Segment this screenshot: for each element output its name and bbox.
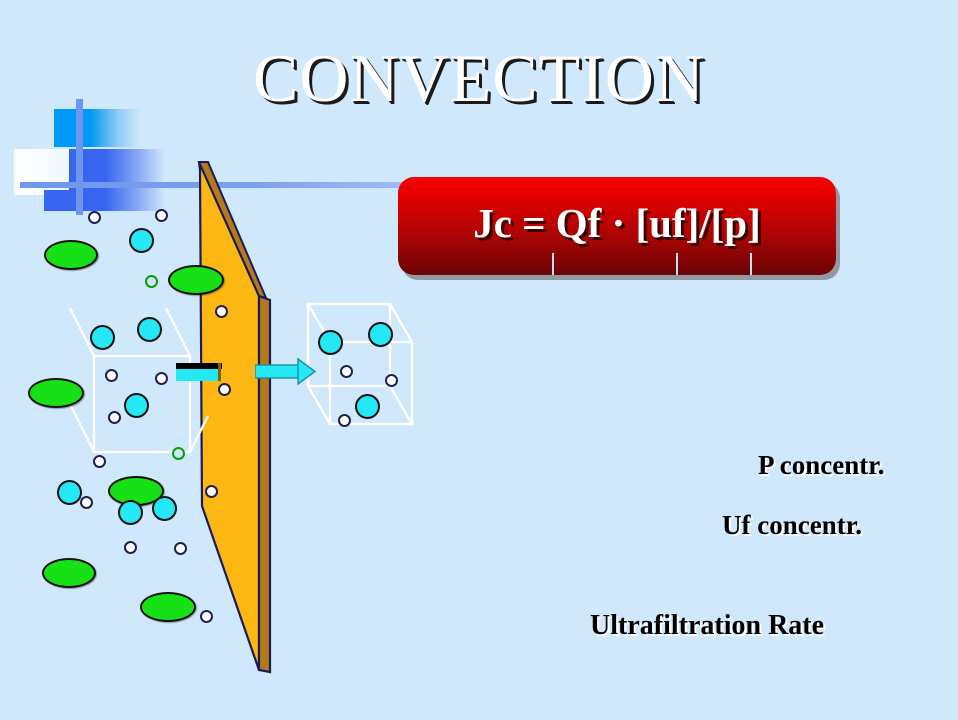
water-molecule <box>88 211 101 224</box>
protein-particle <box>28 378 84 408</box>
water-molecule <box>155 372 168 385</box>
decorative-cyan-square <box>54 109 92 147</box>
protein-particle <box>44 240 98 270</box>
water-molecule <box>80 496 93 509</box>
water-molecule <box>385 374 398 387</box>
water-molecule <box>124 541 137 554</box>
label-ultrafiltration-rate: Ultrafiltration Rate <box>590 610 824 642</box>
solute-particle <box>57 480 82 505</box>
water-molecule <box>338 414 351 427</box>
water-molecule <box>205 485 218 498</box>
solute-particle <box>152 496 177 521</box>
decorative-vertical-rule <box>76 99 83 215</box>
formula-text: Jc = Qf · [uf]/[p] <box>398 199 836 247</box>
water-molecule <box>108 411 121 424</box>
solute-particle <box>368 322 393 347</box>
decorative-white-square <box>14 149 76 195</box>
formula-box: Jc = Qf · [uf]/[p] <box>398 177 836 275</box>
formula-tick-1 <box>552 253 554 275</box>
membrane-edge <box>259 296 270 672</box>
solute-particle <box>118 500 143 525</box>
water-molecule <box>93 455 106 468</box>
label-p-concentration: P concentr. <box>758 450 884 481</box>
arrow-bar-left <box>176 369 220 381</box>
protein-particle <box>42 558 96 588</box>
cube-right <box>300 296 420 448</box>
arrow-right <box>255 356 317 388</box>
water-molecule <box>200 610 213 623</box>
solute-particle <box>318 330 343 355</box>
decorative-blue-square-lower <box>44 190 76 211</box>
water-molecule <box>218 383 231 396</box>
slide-canvas: CONVECTION Jc = Qf · [uf]/[p] <box>0 0 958 720</box>
formula-tick-3 <box>750 253 752 275</box>
arrow-tick-left <box>218 363 221 381</box>
solute-particle <box>137 317 162 342</box>
solute-particle <box>355 394 380 419</box>
label-uf-concentration: Uf concentr. <box>722 510 862 541</box>
solute-particle <box>90 325 115 350</box>
slide-title: CONVECTION <box>0 44 958 112</box>
solute-particle <box>129 228 154 253</box>
protein-particle <box>140 592 196 622</box>
water-molecule <box>215 305 228 318</box>
decorative-cyan-gradient <box>92 109 140 147</box>
water-molecule <box>174 542 187 555</box>
small-green-molecule <box>172 447 185 460</box>
water-molecule <box>105 369 118 382</box>
decorative-blue-gradient <box>105 149 165 211</box>
water-molecule <box>340 365 353 378</box>
formula-tick-2 <box>676 253 678 275</box>
protein-particle <box>168 265 224 295</box>
small-green-molecule <box>145 275 158 288</box>
solute-particle <box>124 393 149 418</box>
water-molecule <box>155 209 168 222</box>
